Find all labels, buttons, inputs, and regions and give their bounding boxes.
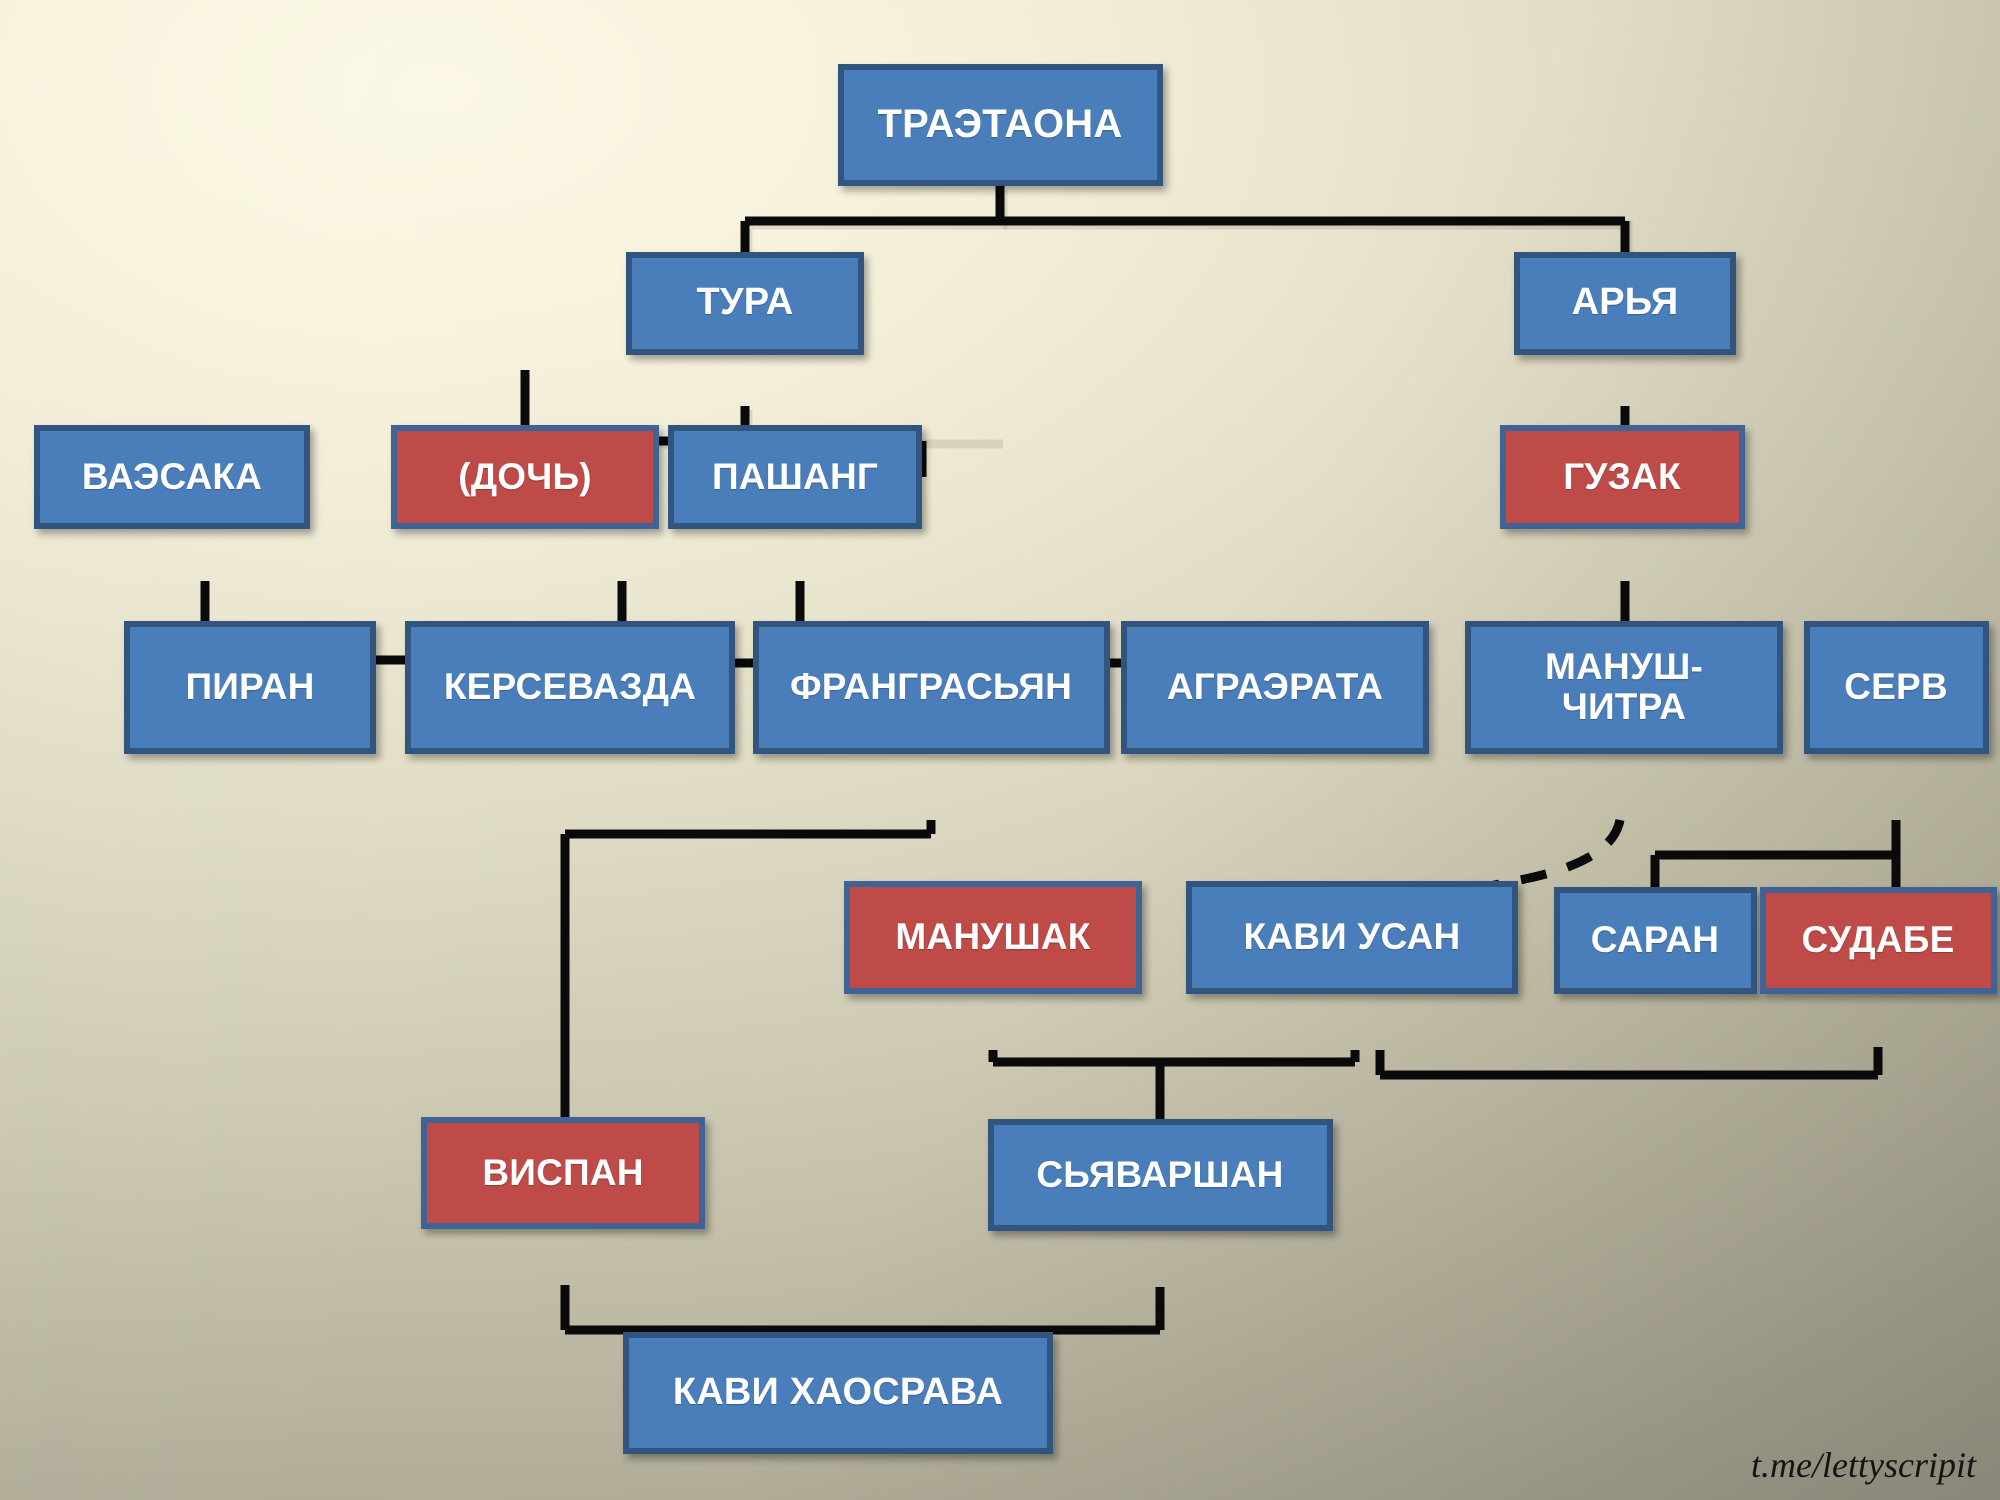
node-label: МАНУШ-ЧИТРА (1539, 647, 1709, 727)
node-pashang[interactable]: ПАШАНГ (668, 425, 922, 529)
node-agraerata[interactable]: АГРАЭРАТА (1121, 621, 1429, 754)
node-label: КЕРСЕВАЗДА (438, 667, 702, 707)
node-kavihaosrava[interactable]: КАВИ ХАОСРАВА (623, 1332, 1053, 1454)
node-label: ВИСПАН (476, 1153, 649, 1193)
edge-traetaona-children (745, 186, 1625, 303)
node-label: ВАЭСАКА (76, 457, 268, 497)
node-label: СУДАБЕ (1796, 920, 1961, 960)
node-label: ГУЗАК (1557, 457, 1686, 497)
node-saran[interactable]: САРАН (1554, 887, 1757, 994)
node-vaesaka[interactable]: ВАЭСАКА (34, 425, 310, 529)
node-kaviusan[interactable]: КАВИ УСАН (1186, 881, 1518, 994)
node-label: АГРАЭРАТА (1161, 667, 1389, 707)
node-arya[interactable]: АРЬЯ (1514, 252, 1736, 355)
node-frangrasyan[interactable]: ФРАНГРАСЬЯН (753, 621, 1110, 754)
node-kersevazda[interactable]: КЕРСЕВАЗДА (405, 621, 735, 754)
node-tura[interactable]: ТУРА (626, 252, 864, 355)
node-vispan[interactable]: ВИСПАН (421, 1117, 705, 1229)
node-label: КАВИ УСАН (1238, 917, 1467, 957)
node-guzak[interactable]: ГУЗАК (1500, 425, 1745, 529)
watermark: t.me/lettyscripit (1751, 1444, 1976, 1486)
node-manushchitra[interactable]: МАНУШ-ЧИТРА (1465, 621, 1783, 754)
node-label: АРЬЯ (1566, 282, 1685, 323)
node-label: МАНУШАК (889, 917, 1096, 957)
node-label: ТУРА (690, 282, 799, 323)
node-label: ПАШАНГ (706, 457, 884, 497)
node-dotch[interactable]: (ДОЧЬ) (391, 425, 659, 529)
node-label: СЬЯВАРШАН (1030, 1155, 1289, 1195)
node-label: ТРАЭТАОНА (872, 103, 1129, 146)
node-label: (ДОЧЬ) (452, 457, 598, 497)
node-syavarshan[interactable]: СЬЯВАРШАН (988, 1119, 1333, 1231)
node-piran[interactable]: ПИРАН (124, 621, 376, 754)
node-label: ПИРАН (179, 667, 320, 707)
node-serv[interactable]: СЕРВ (1804, 621, 1989, 754)
node-label: КАВИ ХАОСРАВА (667, 1372, 1009, 1413)
node-traetaona[interactable]: ТРАЭТАОНА (838, 64, 1163, 186)
node-label: ФРАНГРАСЬЯН (784, 667, 1078, 707)
family-tree-diagram: ТРАЭТАОНАТУРААРЬЯВАЭСАКА(ДОЧЬ)ПАШАНГГУЗА… (0, 0, 2000, 1500)
node-sudabe[interactable]: СУДАБЕ (1760, 887, 1997, 994)
node-label: СЕРВ (1838, 667, 1954, 707)
edge-kaviusan-sudabe-union (1380, 1047, 1878, 1075)
node-manushak[interactable]: МАНУШАК (844, 881, 1142, 994)
node-label: САРАН (1585, 920, 1725, 960)
